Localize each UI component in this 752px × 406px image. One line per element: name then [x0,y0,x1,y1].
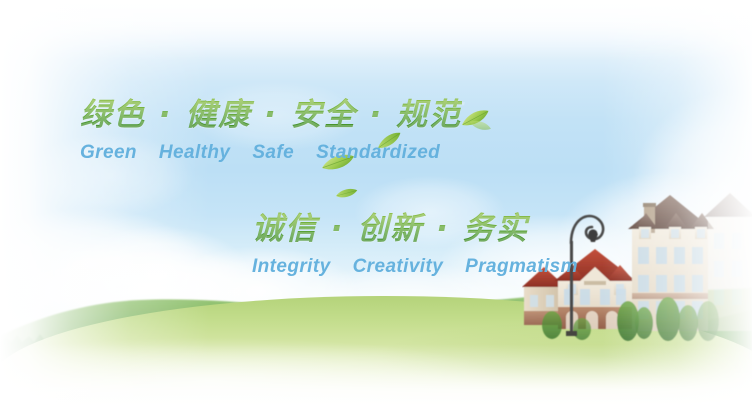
slogan-word-integrity: Integrity [252,256,331,277]
slogan-primary-chinese: 绿色 · 健康 · 安全 · 规范 [80,96,462,136]
slogan-word-safe: Safe [252,142,294,163]
slogan-word-healthy: Healthy [159,142,230,163]
slogan-primary: 绿色 · 健康 · 安全 · 规范 GreenHealthySafeStanda… [80,96,462,167]
slogan-secondary-chinese: 诚信 · 创新 · 务实 [252,210,578,250]
slogan-secondary-english: IntegrityCreativityPragmatism [252,253,578,282]
slogan-word-standardized: Standardized [316,142,440,163]
slogan-primary-english: GreenHealthySafeStandardized [80,139,462,168]
slogan-secondary: 诚信 · 创新 · 务实 IntegrityCreativityPragmati… [252,210,578,281]
slogan-word-pragmatism: Pragmatism [465,256,578,277]
slogan-word-creativity: Creativity [353,256,444,277]
slogan-word-green: Green [80,142,137,163]
banner: 绿色 · 健康 · 安全 · 规范 GreenHealthySafeStanda… [0,0,752,406]
